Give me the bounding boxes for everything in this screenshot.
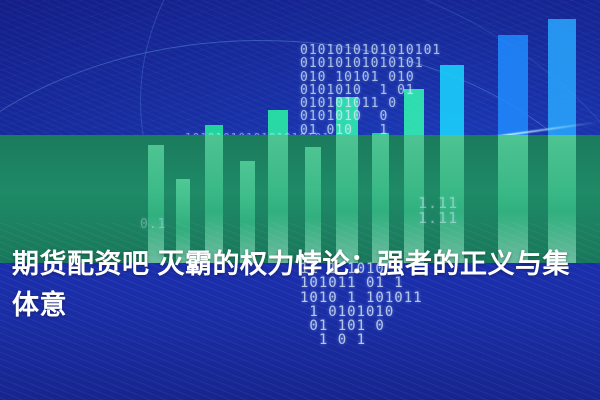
headline-line-1: 期货配资吧 灭霸的权力悖论：强者的正义与集体意 [6,244,594,326]
headline-text: 期货配资吧 灭霸的权力悖论：强者的正义与集体意 志的对抗_泰坦_问题_宇宙 [0,162,600,400]
banner-image: 0101010101010101 01010101010101 010 1010… [0,0,600,400]
